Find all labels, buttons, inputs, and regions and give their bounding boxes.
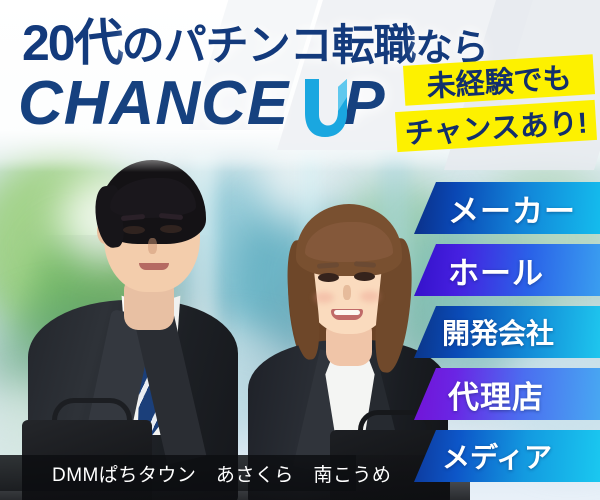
category-banner-development-company[interactable]: 開発会社 (414, 306, 600, 358)
category-banner-hall[interactable]: ホール (414, 244, 600, 296)
woman-cheek-right (360, 291, 380, 302)
woman-eye-right (354, 272, 375, 281)
headline-age: 20代 (22, 15, 122, 71)
advertisement-banner[interactable]: 20代のパチンコ転職なら CHANCEP 未経験でも チャンスあり! メーカー … (0, 0, 600, 500)
category-banner-media[interactable]: メディア (414, 430, 600, 482)
category-label: ホール (448, 248, 544, 293)
category-label: 開発会社 (442, 312, 554, 352)
woman-nose (343, 285, 351, 300)
headline-rest: のパチンコ転職 (122, 22, 416, 70)
woman-eye-left (318, 273, 339, 282)
credits-text: DMMぱちタウン あさくら 南こうめ (52, 460, 391, 487)
man-mouth (139, 263, 169, 270)
man-eye-left (123, 226, 145, 234)
headline: 20代のパチンコ転職なら (22, 18, 488, 68)
credits-bar: DMMぱちタウン あさくら 南こうめ (0, 455, 356, 491)
category-banner-maker[interactable]: メーカー (414, 182, 600, 234)
logo-u-swoosh-icon (299, 73, 343, 135)
badge-label: 未経験でも (425, 55, 572, 106)
man-nose (148, 238, 157, 254)
woman-teeth (334, 310, 360, 315)
chance-up-logo: CHANCEP (18, 73, 386, 135)
category-banner-agency[interactable]: 代理店 (414, 368, 600, 420)
man-eye-right (160, 225, 182, 233)
category-label: 代理店 (448, 372, 544, 417)
category-label: メーカー (448, 186, 576, 231)
logo-word-chance: CHANCE (18, 69, 289, 138)
category-label: メディア (442, 436, 552, 476)
woman-cheek-left (314, 292, 334, 303)
